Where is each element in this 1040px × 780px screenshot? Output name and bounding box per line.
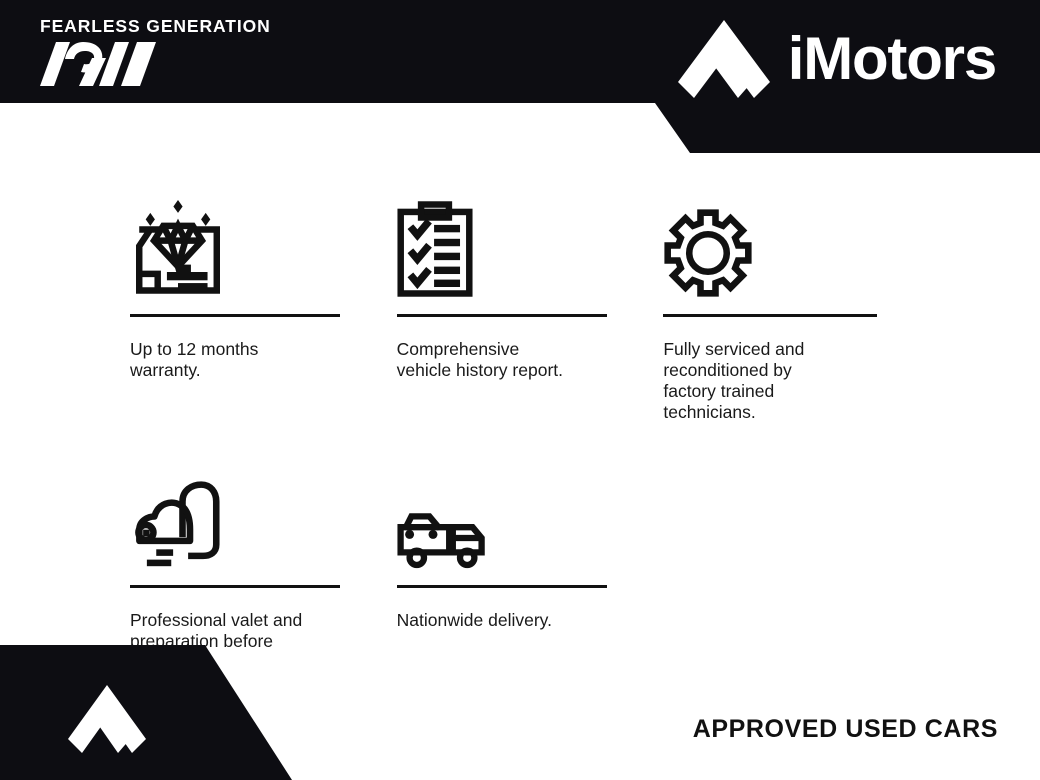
clipboard-checklist-icon: [397, 186, 664, 298]
feature-grid: Up to 12 months warranty.: [130, 186, 930, 673]
feature-row-two: Professional valet and preparation befor…: [130, 457, 930, 673]
feature-caption: Up to 12 months warranty.: [130, 339, 345, 381]
car-transporter-truck-icon: [397, 457, 664, 569]
feature-divider: [397, 585, 607, 588]
feature-item-valet: Professional valet and preparation befor…: [130, 457, 397, 673]
feature-item-history-report: Comprehensive vehicle history report.: [397, 186, 664, 423]
header-right-brand: iMotors: [678, 20, 996, 98]
feature-row-one: Up to 12 months warranty.: [130, 186, 930, 423]
feature-divider: [663, 314, 877, 317]
feature-divider: [397, 314, 607, 317]
feature-divider: [130, 585, 340, 588]
feature-item-delivery: Nationwide delivery.: [397, 457, 664, 673]
footer-headline: APPROVED USED CARS: [693, 715, 998, 744]
header-left-brand: FEARLESS GENERATION: [40, 18, 271, 86]
feature-caption: Fully serviced and reconditioned by fact…: [663, 339, 878, 423]
feature-caption: Comprehensive vehicle history report.: [397, 339, 612, 381]
feature-item-serviced: Fully serviced and reconditioned by fact…: [663, 186, 930, 423]
imotors-wordmark: iMotors: [788, 29, 996, 89]
gear-cog-icon: [663, 186, 930, 298]
vacuum-cleaner-icon: [130, 457, 397, 569]
feature-caption: Nationwide delivery.: [397, 610, 612, 631]
footer-chevron-icon: [68, 685, 146, 753]
warranty-certificate-diamond-icon: [130, 186, 397, 298]
imotors-chevron-icon: [678, 20, 770, 98]
header-tagline: FEARLESS GENERATION: [40, 18, 271, 36]
feature-divider: [130, 314, 340, 317]
feature-item-warranty: Up to 12 months warranty.: [130, 186, 397, 423]
year-1971-logo: [40, 42, 156, 86]
